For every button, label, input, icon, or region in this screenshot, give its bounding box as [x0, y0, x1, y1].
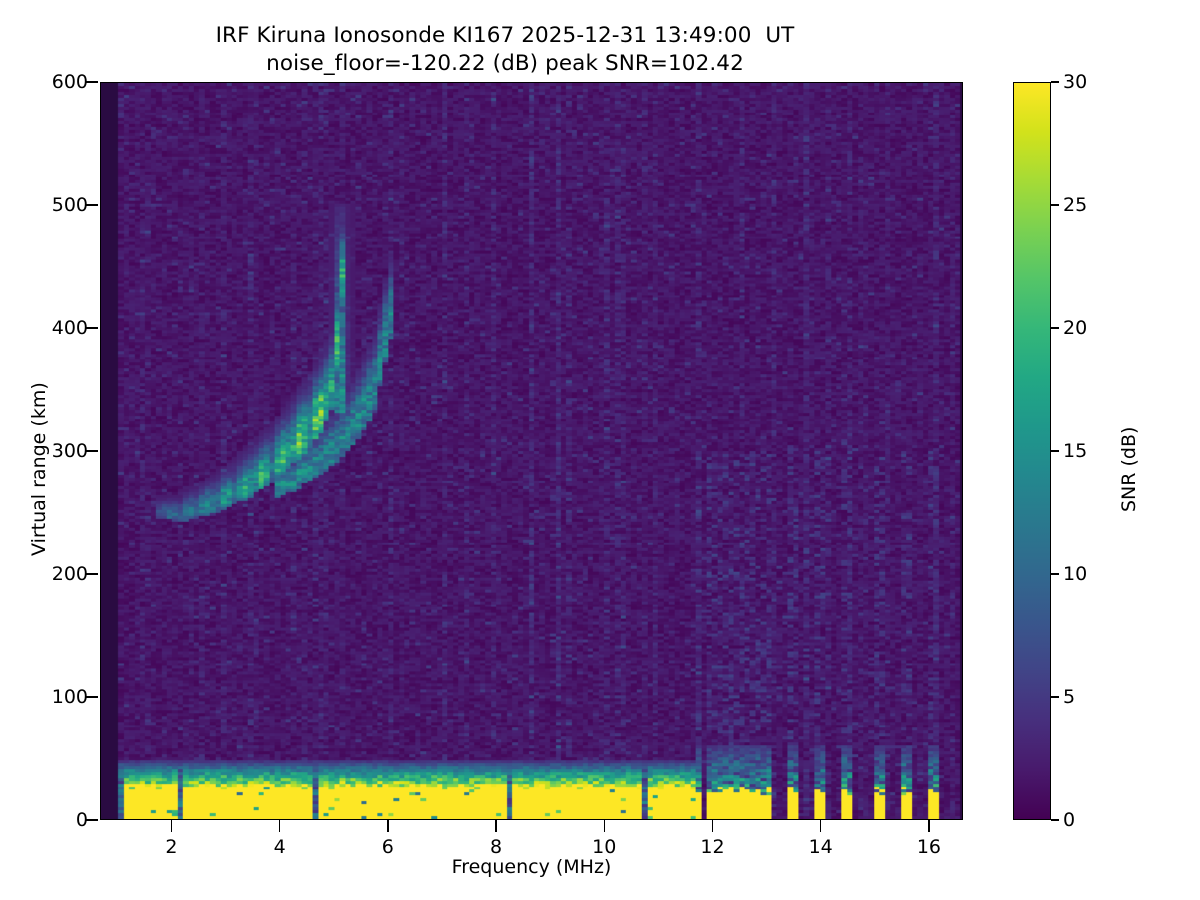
y-tick-label: 100 — [0, 686, 88, 708]
x-tick-label: 10 — [592, 836, 616, 858]
colorbar-tick-label: 20 — [1063, 317, 1087, 339]
x-tick — [279, 820, 280, 832]
figure-title: IRF Kiruna Ionosonde KI167 2025-12-31 13… — [0, 22, 1010, 78]
x-tick — [712, 820, 713, 832]
colorbar — [1013, 82, 1051, 820]
title-line-2: noise_floor=-120.22 (dB) peak SNR=102.42 — [0, 50, 1010, 78]
colorbar-gradient — [1014, 83, 1050, 819]
colorbar-tick-label: 10 — [1063, 563, 1087, 585]
y-tick-label: 500 — [0, 194, 88, 216]
x-tick — [928, 820, 929, 832]
x-tick-label: 4 — [274, 836, 286, 858]
y-axis-label: Virtual range (km) — [28, 382, 50, 556]
y-tick-label: 200 — [0, 563, 88, 585]
x-axis-label: Frequency (MHz) — [100, 856, 963, 878]
title-line-1: IRF Kiruna Ionosonde KI167 2025-12-31 13… — [0, 22, 1010, 50]
colorbar-tick — [1051, 696, 1059, 697]
x-tick — [387, 820, 388, 832]
colorbar-tick-label: 30 — [1063, 71, 1087, 93]
colorbar-tick-label: 15 — [1063, 440, 1087, 462]
colorbar-label: SNR (dB) — [1118, 427, 1140, 512]
colorbar-tick-label: 25 — [1063, 194, 1087, 216]
colorbar-tick — [1051, 204, 1059, 205]
x-tick — [171, 820, 172, 832]
x-tick-label: 8 — [490, 836, 502, 858]
x-tick — [820, 820, 821, 832]
ionogram-figure: IRF Kiruna Ionosonde KI167 2025-12-31 13… — [0, 0, 1200, 900]
x-tick-label: 6 — [382, 836, 394, 858]
x-tick — [604, 820, 605, 832]
x-tick — [495, 820, 496, 832]
x-tick-label: 14 — [809, 836, 833, 858]
colorbar-tick — [1051, 573, 1059, 574]
ionogram-plot-area — [100, 82, 963, 820]
y-tick-label: 0 — [0, 809, 88, 831]
colorbar-tick — [1051, 327, 1059, 328]
x-tick-label: 12 — [700, 836, 724, 858]
colorbar-tick — [1051, 81, 1059, 82]
x-tick-label: 2 — [165, 836, 177, 858]
colorbar-tick-label: 5 — [1063, 686, 1075, 708]
y-tick-label: 600 — [0, 71, 88, 93]
x-tick-label: 16 — [917, 836, 941, 858]
ionogram-heatmap — [101, 83, 962, 819]
colorbar-tick — [1051, 450, 1059, 451]
y-tick-label: 400 — [0, 317, 88, 339]
colorbar-tick-label: 0 — [1063, 809, 1075, 831]
colorbar-tick — [1051, 819, 1059, 820]
